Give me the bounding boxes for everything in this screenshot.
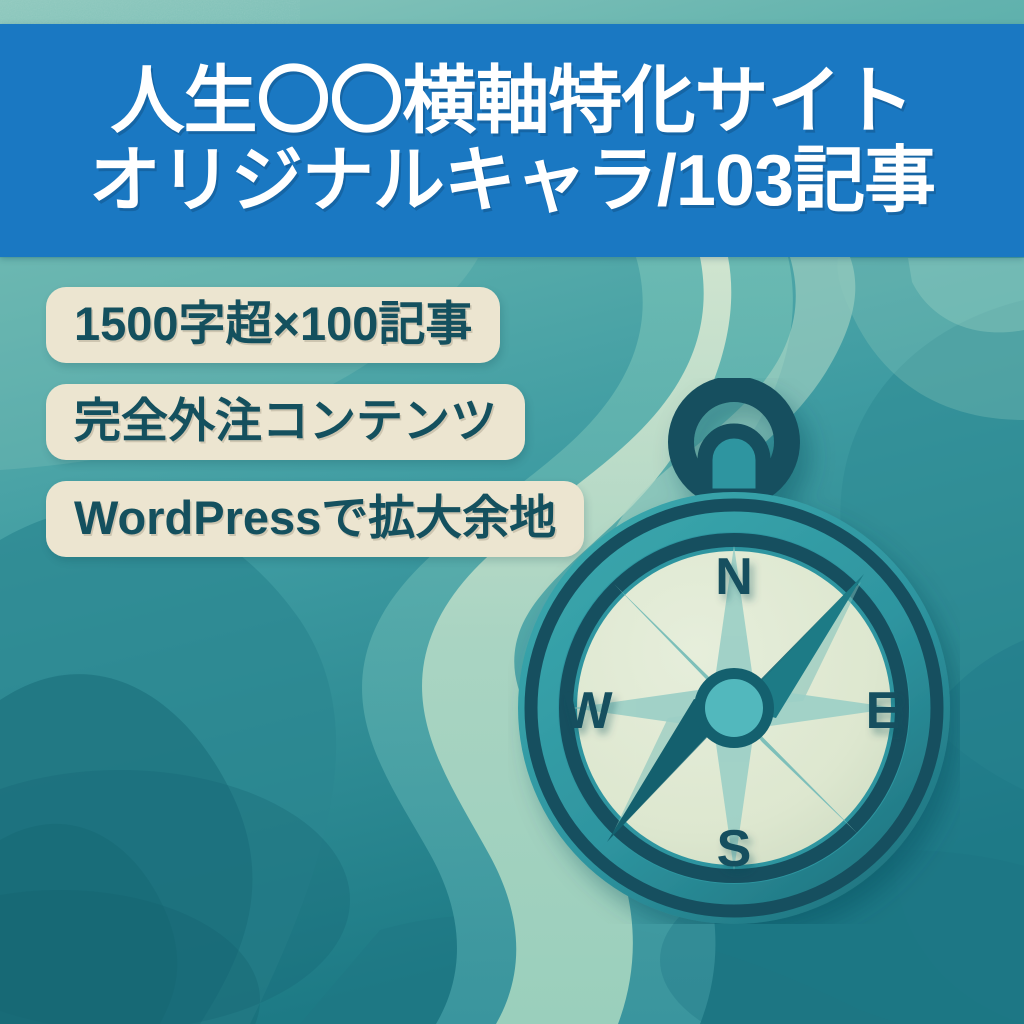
- compass-label-north: N: [715, 548, 753, 606]
- header-title-line-1: 人生〇〇横軸特化サイト: [111, 61, 914, 140]
- compass-label-east: E: [866, 682, 901, 740]
- feature-badge: 1500字超×100記事: [46, 287, 500, 363]
- poster-canvas: 人生〇〇横軸特化サイト オリジナルキャラ/103記事 1500字超×100記事 …: [0, 0, 1024, 1024]
- header-title-line-2: オリジナルキャラ/103記事: [89, 143, 935, 220]
- feature-badge: 完全外注コンテンツ: [46, 384, 525, 460]
- compass-icon: N E S W: [508, 378, 960, 924]
- header-banner: 人生〇〇横軸特化サイト オリジナルキャラ/103記事: [0, 24, 1024, 257]
- compass-label-west: W: [563, 682, 613, 740]
- compass-bail: [681, 389, 787, 496]
- feature-badge: WordPressで拡大余地: [46, 481, 584, 557]
- compass-label-south: S: [717, 820, 752, 878]
- feature-badge-label: 完全外注コンテンツ: [74, 397, 497, 444]
- feature-badge-label: WordPressで拡大余地: [74, 494, 556, 541]
- feature-badge-list: 1500字超×100記事 完全外注コンテンツ WordPressで拡大余地: [46, 287, 584, 557]
- feature-badge-label: 1500字超×100記事: [74, 300, 472, 347]
